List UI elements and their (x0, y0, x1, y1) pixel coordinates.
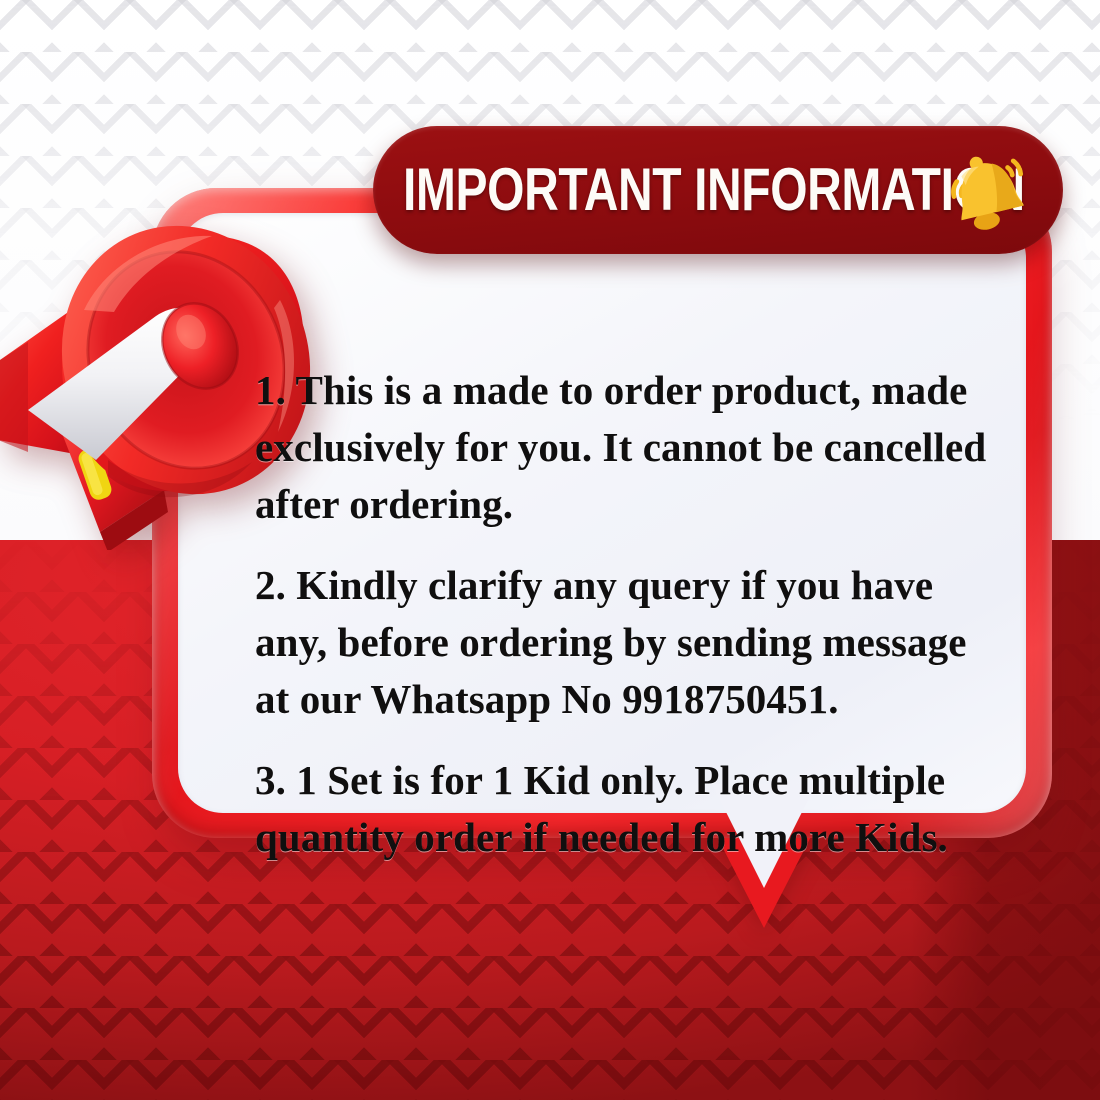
bell-icon (937, 144, 1033, 238)
note-item-1: 1. This is a made to order product, made… (255, 362, 1005, 533)
poster-canvas: IMPORTANT INFORMATION (0, 0, 1100, 1100)
note-item-2: 2. Kindly clarify any query if you have … (255, 557, 1005, 728)
page-title: IMPORTANT INFORMATION (403, 160, 1025, 220)
note-item-3: 3. 1 Set is for 1 Kid only. Place multip… (255, 752, 1005, 866)
header-banner: IMPORTANT INFORMATION (373, 126, 1063, 254)
notes-list: 1. This is a made to order product, made… (255, 362, 1005, 866)
